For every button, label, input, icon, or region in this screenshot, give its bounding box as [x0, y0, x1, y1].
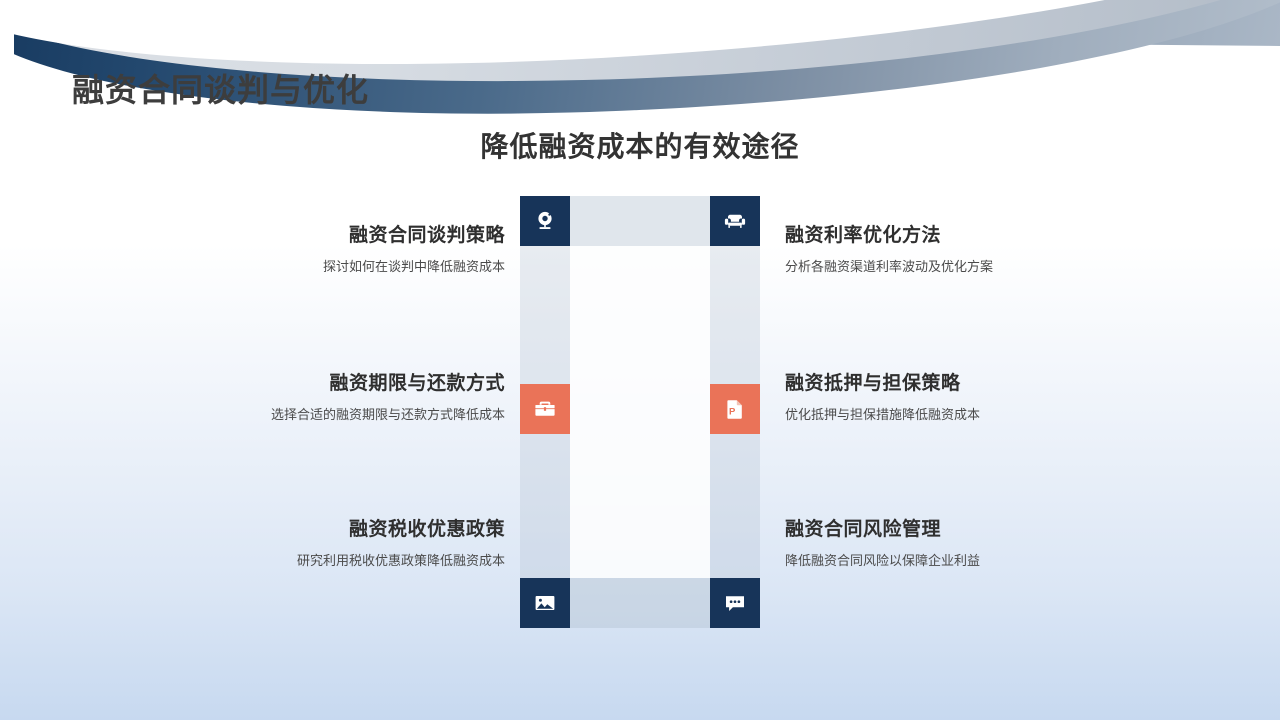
feature-block-left-3: 融资税收优惠政策 研究利用税收优惠政策降低融资成本 [175, 518, 505, 570]
center-graphic: P [520, 196, 760, 628]
feature-block-left-2: 融资期限与还款方式 选择合适的融资期限与还款方式降低成本 [175, 372, 505, 424]
icon-tile-chat[interactable] [710, 578, 760, 628]
page-subtitle: 降低融资成本的有效途径 [0, 125, 1280, 165]
page-title: 融资合同谈判与优化 [72, 65, 369, 111]
armchair-icon [723, 209, 747, 233]
feature-desc: 选择合适的融资期限与还款方式降低成本 [175, 406, 505, 424]
feature-title: 融资利率优化方法 [785, 224, 1115, 249]
chat-bubble-icon [723, 591, 747, 615]
icon-tile-toolbox[interactable] [520, 384, 570, 434]
svg-text:P: P [729, 406, 736, 417]
inner-white-panel [570, 246, 710, 578]
presentation-file-icon: P [723, 397, 747, 421]
feature-desc: 优化抵押与担保措施降低融资成本 [785, 406, 1115, 424]
feature-title: 融资税收优惠政策 [175, 518, 505, 543]
image-icon [533, 591, 557, 615]
feature-desc: 降低融资合同风险以保障企业利益 [785, 552, 1115, 570]
feature-block-left-1: 融资合同谈判策略 探讨如何在谈判中降低融资成本 [175, 224, 505, 276]
feature-desc: 探讨如何在谈判中降低融资成本 [175, 258, 505, 276]
feature-title: 融资合同谈判策略 [175, 224, 505, 249]
toolbox-icon [533, 397, 557, 421]
icon-tile-image[interactable] [520, 578, 570, 628]
webcam-icon [533, 209, 557, 233]
feature-block-right-1: 融资利率优化方法 分析各融资渠道利率波动及优化方案 [785, 224, 1115, 276]
header-corner-accent [0, 0, 14, 56]
feature-title: 融资合同风险管理 [785, 518, 1115, 543]
icon-tile-webcam[interactable] [520, 196, 570, 246]
icon-tile-presentation-file[interactable]: P [710, 384, 760, 434]
feature-desc: 分析各融资渠道利率波动及优化方案 [785, 258, 1115, 276]
slide-canvas: 融资合同谈判与优化 降低融资成本的有效途径 [0, 0, 1280, 720]
feature-title: 融资期限与还款方式 [175, 372, 505, 397]
feature-block-right-3: 融资合同风险管理 降低融资合同风险以保障企业利益 [785, 518, 1115, 570]
feature-desc: 研究利用税收优惠政策降低融资成本 [175, 552, 505, 570]
feature-title: 融资抵押与担保策略 [785, 372, 1115, 397]
icon-tile-armchair[interactable] [710, 196, 760, 246]
feature-block-right-2: 融资抵押与担保策略 优化抵押与担保措施降低融资成本 [785, 372, 1115, 424]
